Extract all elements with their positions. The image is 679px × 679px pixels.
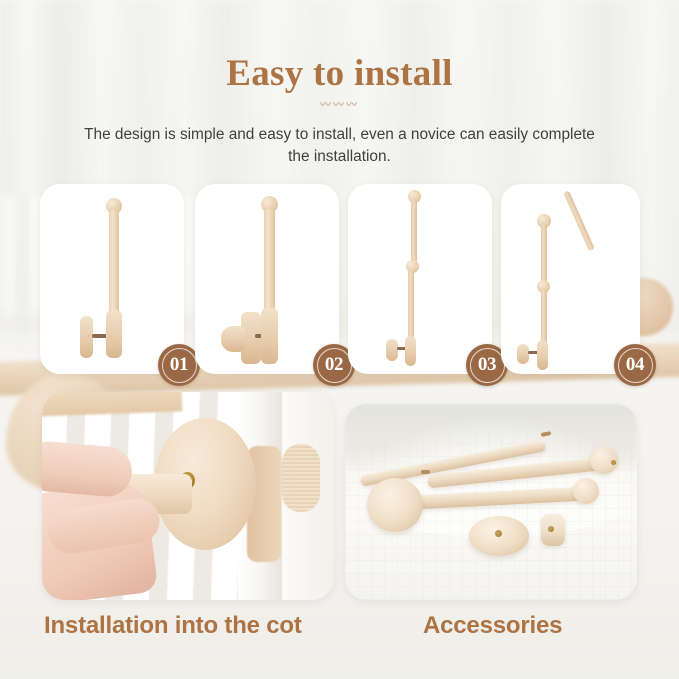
- step-number-03: 03: [478, 354, 496, 376]
- installation-photo[interactable]: [42, 392, 334, 600]
- page-subtitle: The design is simple and easy to install…: [78, 124, 601, 168]
- clamp-knob-icon: [221, 326, 245, 352]
- accessory-ball-end-2: [573, 478, 599, 504]
- accessory-rod-tip-2: [421, 470, 430, 474]
- clamp-disc-icon: [537, 340, 548, 370]
- step-card-row: 01 02: [40, 184, 640, 374]
- caption-accessories: Accessories: [423, 612, 562, 640]
- upper-rod-icon: [411, 200, 417, 268]
- accessory-handle-disc: [367, 478, 423, 532]
- step-card-03[interactable]: 03: [348, 184, 492, 374]
- clamp-disc-outer-icon: [261, 308, 278, 364]
- accessory-ball-screw-hole: [611, 460, 616, 465]
- step-card-01[interactable]: 01: [40, 184, 184, 374]
- step-number-01: 01: [170, 354, 188, 376]
- step-illustration-04: [501, 184, 640, 374]
- clamp-knob-icon: [80, 316, 93, 358]
- step-illustration-02: [195, 184, 339, 374]
- clamp-knob-icon: [517, 344, 529, 364]
- wooden-texture-patch: [282, 444, 320, 512]
- step-card-02[interactable]: 02: [195, 184, 339, 374]
- step-illustration-03: [348, 184, 492, 374]
- accessories-photo[interactable]: [345, 404, 637, 600]
- step-illustration-01: [40, 184, 184, 374]
- wave-divider-icon: 〰〰〰: [0, 100, 679, 111]
- step-badge-04: 04: [614, 344, 656, 386]
- page-title: Easy to install: [0, 52, 679, 95]
- accessory-cylinder-screw-hole: [548, 526, 554, 532]
- step-badge-01: 01: [158, 344, 200, 386]
- caption-installation: Installation into the cot: [44, 612, 302, 640]
- step-number-02: 02: [325, 354, 343, 376]
- angled-top-arm-icon: [563, 190, 595, 251]
- clamp-knob-icon: [386, 339, 398, 361]
- step-card-04[interactable]: 04: [501, 184, 640, 374]
- accessory-base-screw-hole: [495, 530, 502, 537]
- upper-rod-icon: [541, 224, 547, 286]
- clamp-disc-icon: [106, 310, 122, 358]
- infographic-page: Easy to install 〰〰〰 The design is simple…: [0, 0, 679, 679]
- clamp-disc-icon: [405, 336, 416, 366]
- step-number-04: 04: [626, 354, 644, 376]
